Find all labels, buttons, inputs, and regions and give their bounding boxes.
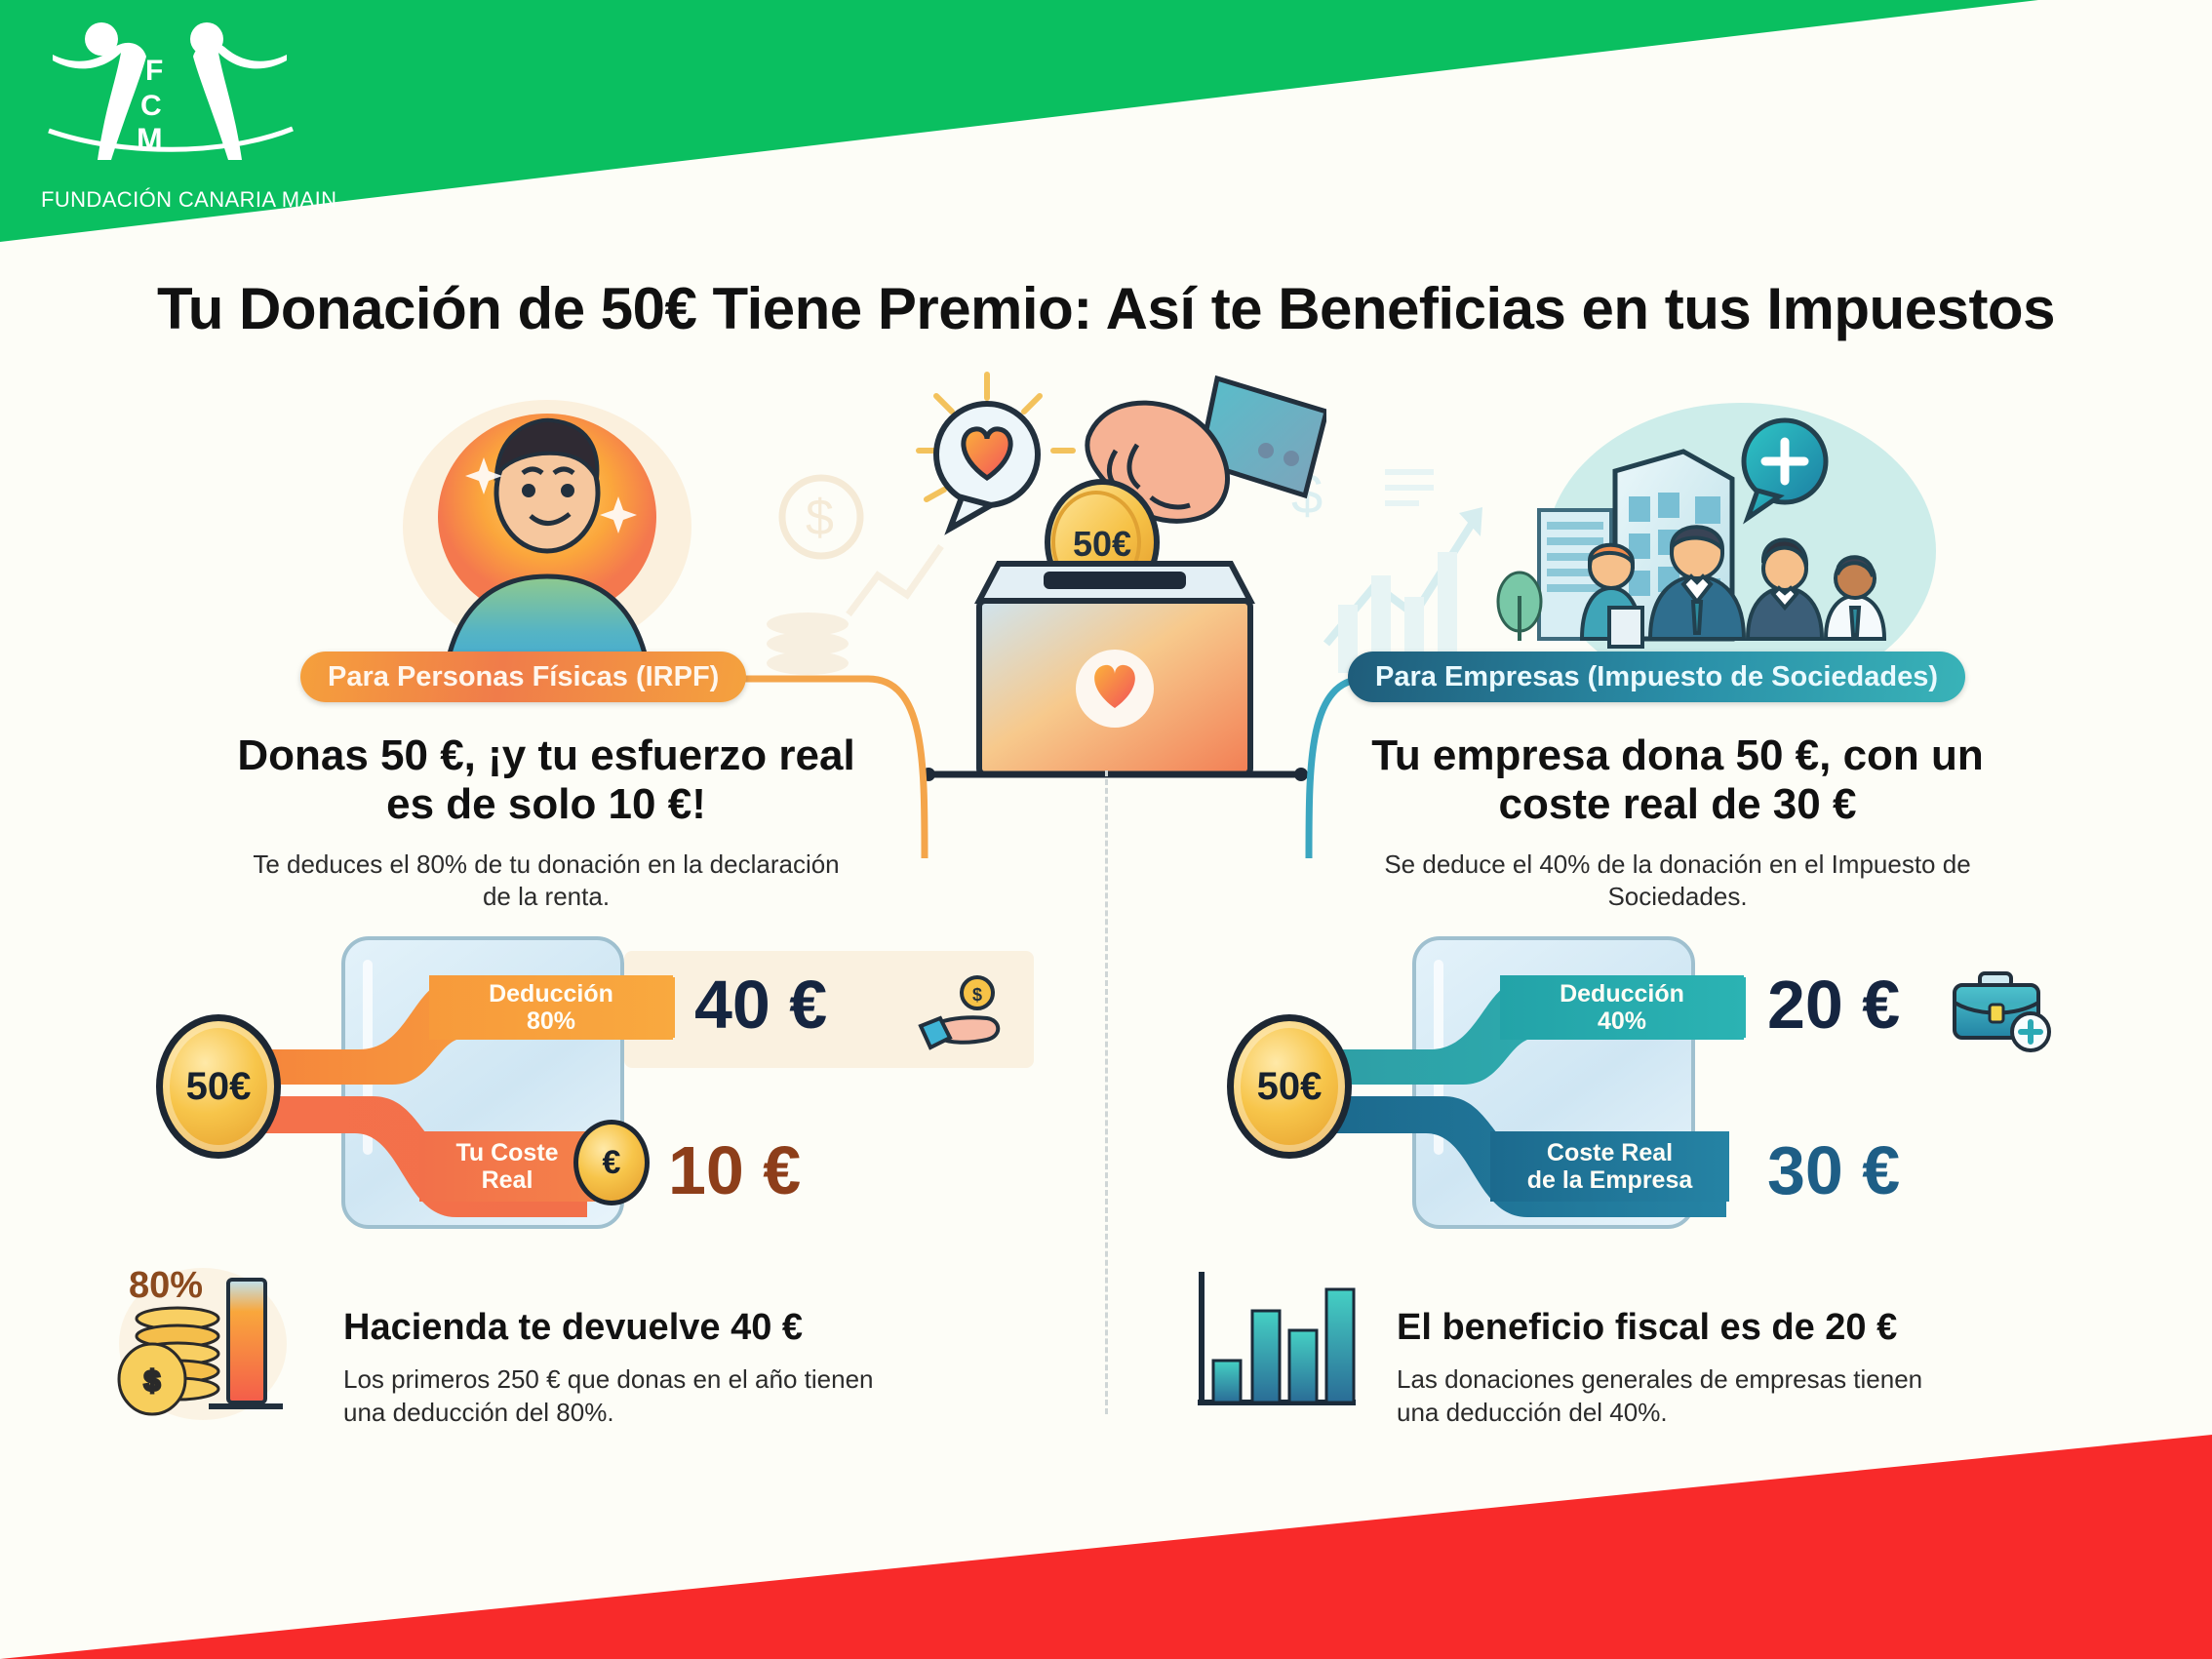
right-headline: Tu empresa dona 50 €, con un coste real … [1356,731,1999,828]
left-deduction-label: Deducción 80% [429,975,673,1040]
right-deduction-text: Deducción [1560,980,1684,1007]
left-cost-text-1: Tu Coste [455,1139,558,1166]
svg-text:50€: 50€ [1073,524,1131,564]
badge-empresas[interactable]: Para Empresas (Impuesto de Sociedades) [1348,652,1965,702]
right-deduction-label: Deducción 40% [1500,975,1744,1040]
deduction-percent-badge: 80% [129,1265,203,1306]
left-headline: Donas 50 €, ¡y tu esfuerzo real es de so… [224,731,868,828]
coins-and-bar-icon: 80% $ [115,1258,310,1424]
bottom-red-banner [0,1435,2212,1659]
left-fact-title: Hacienda te devuelve 40 € [343,1307,803,1349]
person-illustration [386,395,708,678]
company-illustration [1492,395,1951,668]
page-title: Tu Donación de 50€ Tiene Premio: Así te … [0,275,2212,342]
hand-receiving-coin-icon: $ [917,975,1007,1059]
bar-3 [1289,1330,1317,1402]
center-divider [1105,770,1108,1414]
left-cost-text-2: Real [482,1166,533,1194]
left-cost-amount: 10 € [668,1131,801,1209]
left-source-coin-label: 50€ [186,1065,252,1109]
svg-text:F: F [145,55,163,87]
left-deduction-text: Deducción [489,980,613,1007]
left-source-coin: 50€ [156,1014,281,1159]
bar-1 [1213,1361,1241,1402]
right-source-coin: 50€ [1227,1014,1352,1159]
svg-text:$: $ [144,1365,161,1398]
left-subtitle: Te deduces el 80% de tu donación en la d… [244,849,849,914]
right-subtitle: Se deduce el 40% de la donación en el Im… [1365,849,1990,914]
bar-2 [1252,1311,1280,1402]
bar-4 [1326,1289,1354,1402]
left-fact-subtitle: Los primeros 250 € que donas en el año t… [343,1363,889,1430]
briefcase-plus-icon [1951,969,2053,1055]
right-cost-text-2: de la Empresa [1527,1166,1693,1194]
left-mini-coin: € [573,1120,650,1205]
badge-right-label: Para Empresas (Impuesto de Sociedades) [1375,661,1938,693]
right-deduction-percent: 40% [1598,1007,1646,1035]
bar-chart-icon [1188,1258,1368,1419]
brand-logo: F C M FUNDACIÓN CANARIA MAIN [21,14,314,209]
right-deduction-amount: 20 € [1767,966,1900,1044]
right-cost-amount: 30 € [1767,1131,1900,1209]
donation-box [922,564,1308,781]
svg-text:$: $ [972,985,982,1005]
right-fact-title: El beneficio fiscal es de 20 € [1397,1307,1897,1349]
heart-bubble-icon [919,375,1073,529]
left-deduction-percent: 80% [527,1007,575,1035]
right-fact-subtitle: Las donaciones generales de empresas tie… [1397,1363,1943,1430]
left-cost-label: Tu Coste Real [419,1131,595,1202]
svg-text:C: C [140,90,162,122]
infographic-canvas: F C M FUNDACIÓN CANARIA MAIN Tu Donación… [0,0,2212,1659]
right-cost-text-1: Coste Real [1547,1139,1673,1166]
badge-left-label: Para Personas Físicas (IRPF) [328,661,719,693]
left-mini-coin-label: € [603,1144,621,1182]
right-source-coin-label: 50€ [1257,1065,1323,1109]
svg-text:$: $ [806,490,834,546]
badge-personas-fisicas[interactable]: Para Personas Físicas (IRPF) [300,652,746,702]
left-deduction-amount: 40 € [694,966,827,1044]
fcm-logo-icon: F C M [33,14,306,160]
right-cost-label: Coste Real de la Empresa [1490,1131,1729,1202]
brand-logo-text: FUNDACIÓN CANARIA MAIN [41,187,324,213]
